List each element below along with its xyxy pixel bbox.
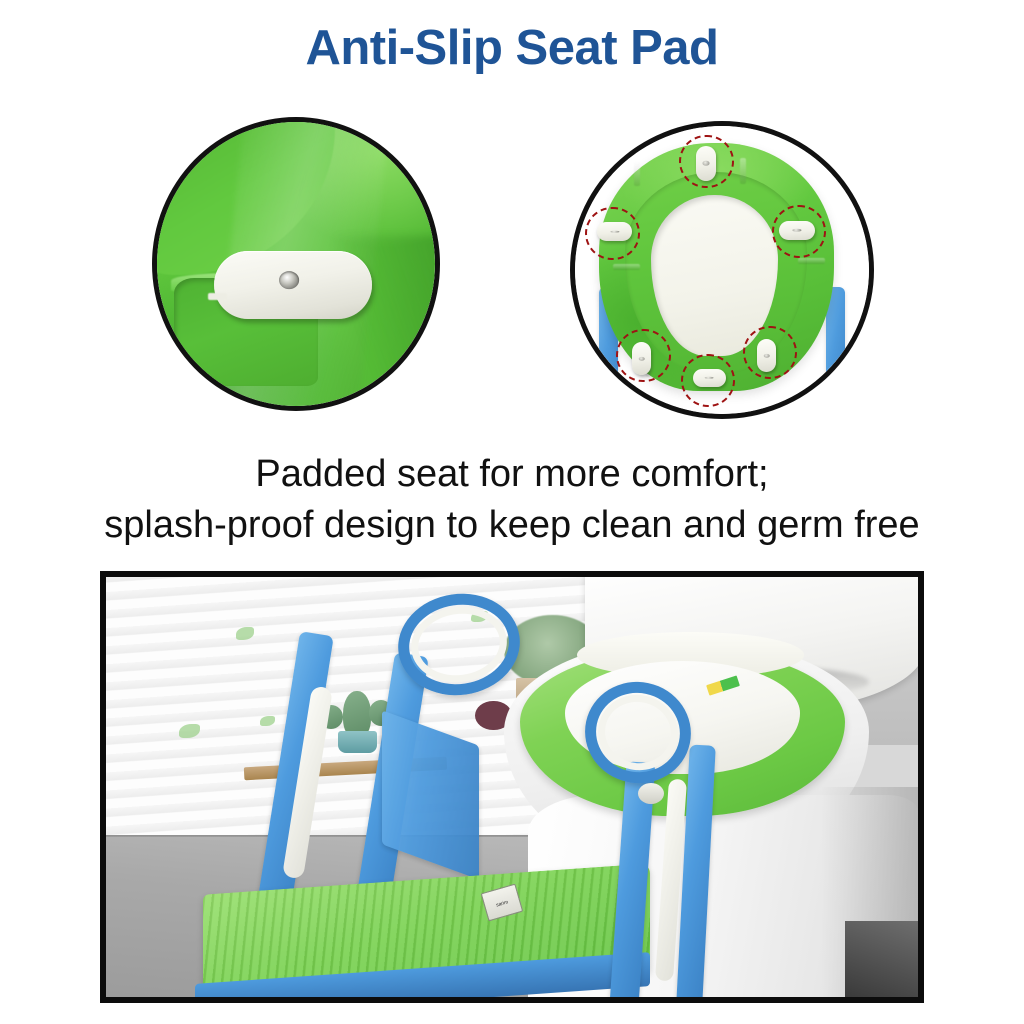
ladder-leg-right	[826, 287, 845, 414]
anti-slip-pad	[214, 251, 372, 319]
lifestyle-photo: sarim	[100, 571, 924, 1003]
ladder-foot-left	[596, 405, 598, 411]
anti-slip-pad-left-lower	[632, 342, 651, 375]
page-title: Anti-Slip Seat Pad	[0, 22, 1024, 76]
anti-slip-pad-bottom	[693, 369, 727, 386]
floor-shadow-corner	[845, 921, 918, 997]
seat-rib	[798, 258, 824, 264]
handle-ring-inner-left	[407, 600, 512, 687]
anti-slip-pad-right-lower	[757, 339, 776, 372]
handle-ring-inner-right	[591, 688, 684, 778]
caption-text: Padded seat for more comfort; splash-pro…	[0, 449, 1024, 550]
underside-illustration	[575, 126, 869, 414]
seat-rib	[740, 158, 746, 184]
pad-tab	[208, 293, 227, 299]
anti-slip-pad-top	[696, 146, 717, 181]
product-infographic: Anti-Slip Seat Pad	[0, 0, 1024, 1024]
caption-line-2: splash-proof design to keep clean and ge…	[0, 500, 1024, 551]
caption-line-1: Padded seat for more comfort;	[255, 453, 768, 495]
anti-slip-pad-left-upper	[597, 222, 632, 241]
anti-slip-pad-right-upper	[779, 221, 814, 240]
inset-seat-underside-overview	[570, 121, 874, 419]
closeup-illustration	[157, 122, 435, 406]
seat-rib	[613, 264, 639, 270]
seat-rib	[634, 161, 640, 187]
cactus-pot	[338, 731, 377, 754]
inset-closeup-anti-slip-pad	[152, 117, 440, 411]
pad-screw-icon	[279, 271, 299, 289]
handle-pivot-knob	[638, 783, 664, 804]
